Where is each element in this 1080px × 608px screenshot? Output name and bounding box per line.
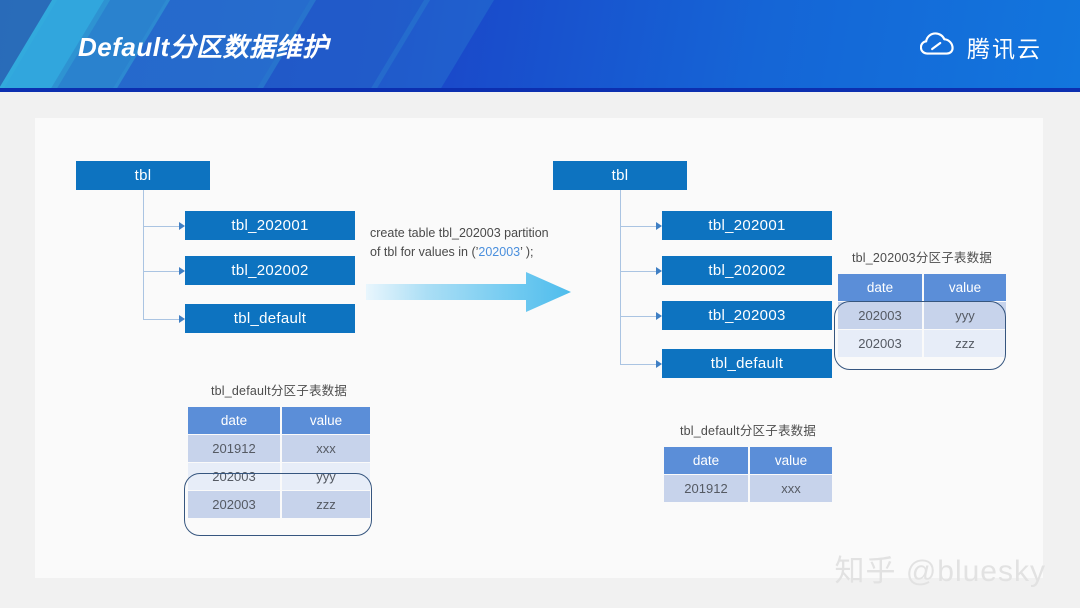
- column-header-value: value: [750, 447, 832, 474]
- table-caption: tbl_default分区子表数据: [662, 420, 834, 439]
- cell-value: yyy: [924, 302, 1006, 329]
- node-tbl-left[interactable]: tbl: [76, 161, 210, 190]
- data-table: date value 202003 yyy 202003 zzz: [836, 273, 1008, 358]
- tree-branch: [620, 226, 660, 227]
- data-table: date value 201912 xxx 202003 yyy 202003 …: [186, 406, 372, 519]
- sql-line-2-post: ’ );: [520, 245, 533, 259]
- cell-date: 202003: [838, 330, 922, 357]
- table-right-tbl-default: tbl_default分区子表数据 date value 201912 xxx: [662, 420, 834, 503]
- table-row: 201912 xxx: [188, 435, 370, 462]
- tencent-cloud-icon: [920, 31, 956, 64]
- sql-line-1: create table tbl_202003 partition: [370, 226, 549, 240]
- table-row: 202003 yyy: [188, 463, 370, 490]
- cell-value: zzz: [282, 491, 370, 518]
- table-header-row: date value: [838, 274, 1006, 301]
- node-tbl-202002-left[interactable]: tbl_202002: [185, 256, 355, 285]
- brand-logo: 腾讯云: [920, 30, 1042, 64]
- table-caption: tbl_202003分区子表数据: [836, 247, 1008, 266]
- sql-statement: create table tbl_202003 partition of tbl…: [370, 224, 575, 262]
- cell-date: 201912: [188, 435, 280, 462]
- column-header-value: value: [282, 407, 370, 434]
- cell-value: yyy: [282, 463, 370, 490]
- tree-branch: [620, 316, 660, 317]
- cell-date: 202003: [188, 463, 280, 490]
- node-tbl-202001-right[interactable]: tbl_202001: [662, 211, 832, 240]
- right-arrow-icon: [366, 270, 571, 314]
- node-tbl-202001-left[interactable]: tbl_202001: [185, 211, 355, 240]
- brand-logo-text: 腾讯云: [967, 30, 1042, 64]
- tree-branch: [143, 319, 183, 320]
- table-right-tbl-202003: tbl_202003分区子表数据 date value 202003 yyy 2…: [836, 247, 1008, 358]
- data-table: date value 201912 xxx: [662, 446, 834, 503]
- column-header-date: date: [188, 407, 280, 434]
- sql-partition-value: 202003: [478, 245, 520, 259]
- node-tbl-202003-right[interactable]: tbl_202003: [662, 301, 832, 330]
- node-tbl-right[interactable]: tbl: [553, 161, 687, 190]
- cell-value: xxx: [750, 475, 832, 502]
- cell-value: zzz: [924, 330, 1006, 357]
- table-left-tbl-default: tbl_default分区子表数据 date value 201912 xxx …: [186, 380, 372, 519]
- table-caption: tbl_default分区子表数据: [186, 380, 372, 399]
- column-header-date: date: [838, 274, 922, 301]
- table-header-row: date value: [188, 407, 370, 434]
- sql-line-2-pre: of tbl for values in (’: [370, 245, 478, 259]
- slide-canvas: Default分区数据维护 腾讯云 tbl tbl_202001 tbl_202…: [0, 0, 1080, 608]
- cell-date: 202003: [188, 491, 280, 518]
- table-row: 201912 xxx: [664, 475, 832, 502]
- cell-value: xxx: [282, 435, 370, 462]
- table-row: 202003 yyy: [838, 302, 1006, 329]
- node-tbl-default-right[interactable]: tbl_default: [662, 349, 832, 378]
- tree-branch: [143, 271, 183, 272]
- watermark: 知乎 @bluesky: [834, 546, 1046, 590]
- banner-underline: [0, 88, 1080, 92]
- page-title: Default分区数据维护: [78, 27, 329, 64]
- cell-date: 201912: [664, 475, 748, 502]
- column-header-date: date: [664, 447, 748, 474]
- node-tbl-202002-right[interactable]: tbl_202002: [662, 256, 832, 285]
- tree-trunk: [620, 190, 621, 365]
- column-header-value: value: [924, 274, 1006, 301]
- tree-trunk: [143, 190, 144, 320]
- tree-branch: [620, 364, 660, 365]
- tree-branch: [143, 226, 183, 227]
- cell-date: 202003: [838, 302, 922, 329]
- tree-branch: [620, 271, 660, 272]
- table-header-row: date value: [664, 447, 832, 474]
- table-row: 202003 zzz: [838, 330, 1006, 357]
- table-row: 202003 zzz: [188, 491, 370, 518]
- node-tbl-default-left[interactable]: tbl_default: [185, 304, 355, 333]
